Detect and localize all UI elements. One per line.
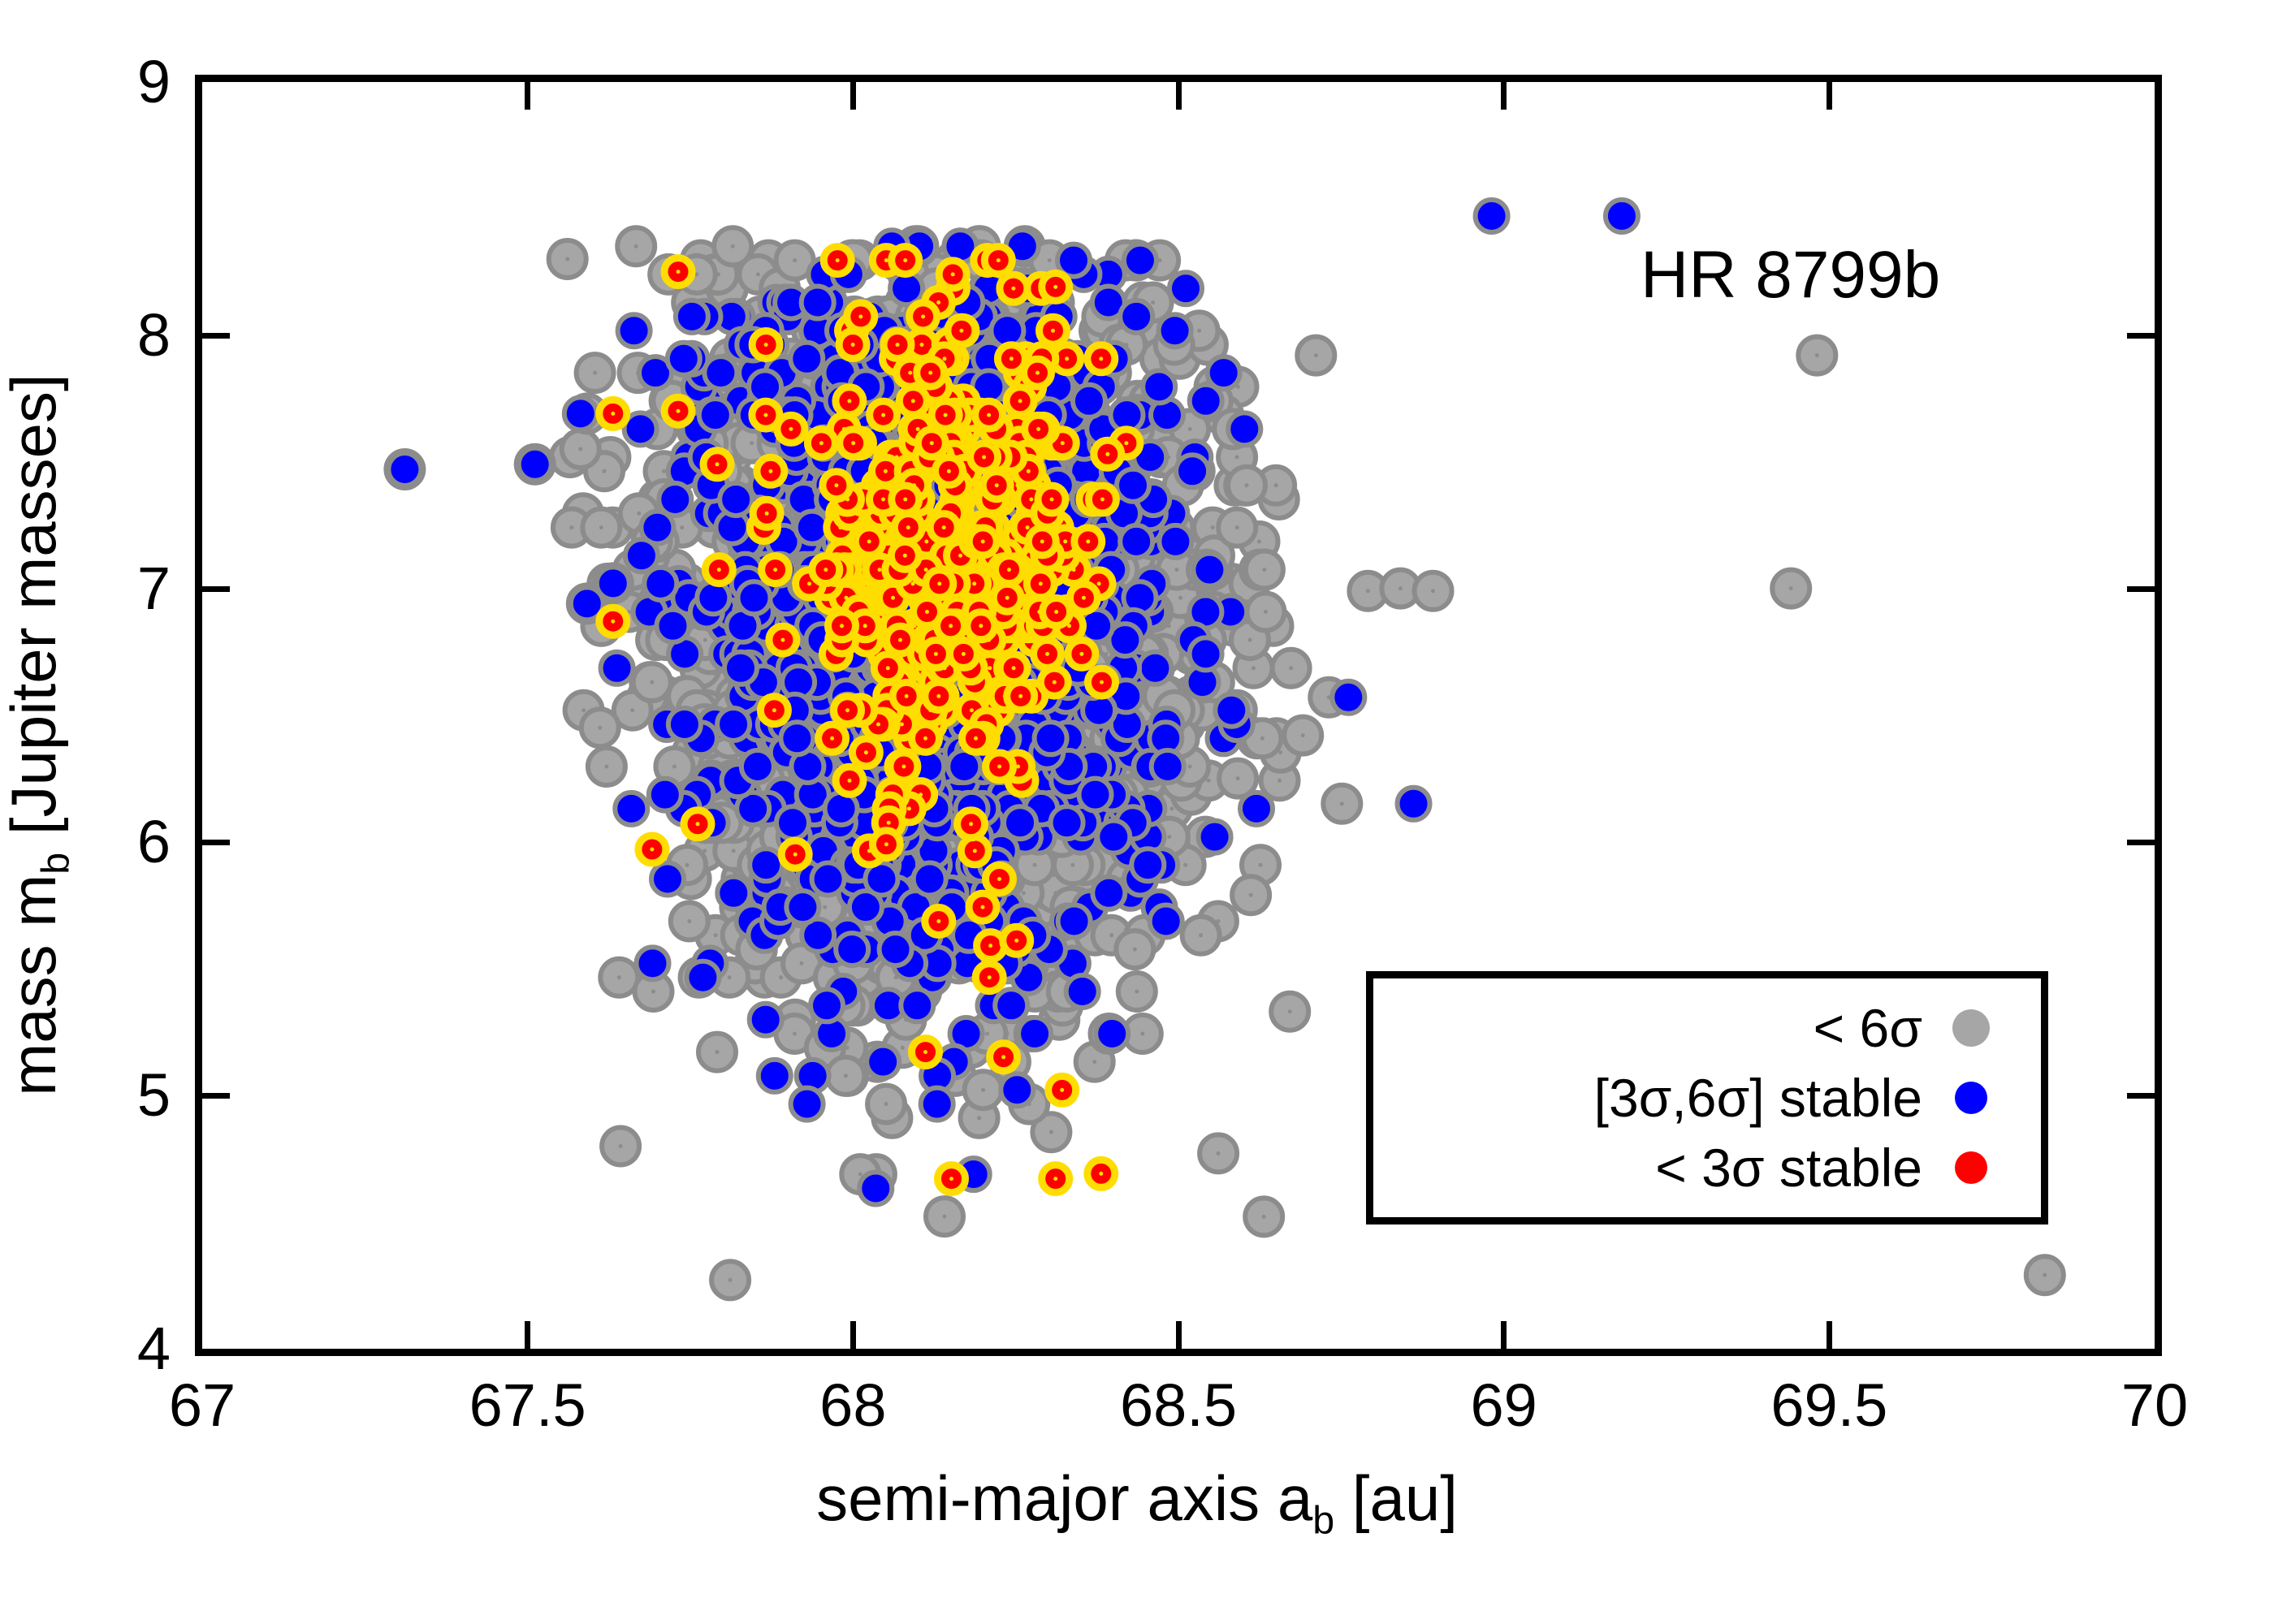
scatter-point xyxy=(780,722,813,754)
scatter-point-center xyxy=(728,975,732,979)
scatter-point xyxy=(1190,637,1222,670)
scatter-point xyxy=(651,863,684,896)
scatter-point-center xyxy=(1133,948,1137,952)
scatter-point xyxy=(1199,821,1231,853)
scatter-point-center xyxy=(1274,483,1278,487)
scatter-point-center xyxy=(599,525,603,529)
scatter-point xyxy=(625,539,658,572)
scatter-point xyxy=(676,300,708,333)
scatter-point-center xyxy=(1431,589,1435,593)
scatter-point xyxy=(1096,1017,1128,1050)
scatter-point xyxy=(1193,554,1226,586)
scatter-point-center xyxy=(1278,779,1282,783)
scatter-point xyxy=(668,708,701,741)
scatter-point xyxy=(1606,200,1638,232)
scatter-point-center xyxy=(604,765,608,769)
scatter-point-center xyxy=(1217,1151,1221,1155)
scatter-point xyxy=(812,863,845,896)
scatter-point-center xyxy=(1252,666,1256,670)
scatter-point xyxy=(618,314,651,347)
scatter-point-center xyxy=(1264,610,1268,614)
scatter-point-center xyxy=(1314,353,1318,357)
scatter-point-center xyxy=(1248,638,1252,642)
scatter-point-center xyxy=(687,919,691,923)
scatter-point-center xyxy=(619,1144,623,1148)
scatter-point xyxy=(519,448,551,481)
scatter-point-center xyxy=(793,1032,797,1036)
scatter-point xyxy=(750,1004,782,1036)
scatter-point-center xyxy=(565,257,569,261)
scatter-point-center xyxy=(662,469,666,473)
scatter-point-center xyxy=(1183,863,1187,867)
scatter-point-center xyxy=(750,441,754,445)
scatter-point xyxy=(1001,1073,1033,1106)
scatter-point xyxy=(791,1088,824,1121)
scatter-point-center xyxy=(630,708,634,712)
scatter-point-center xyxy=(603,469,607,473)
scatter-point xyxy=(717,708,750,741)
scatter-point xyxy=(1073,385,1105,417)
scatter-point xyxy=(724,652,757,685)
scatter-point xyxy=(1398,788,1430,820)
scatter-point-center xyxy=(1399,586,1403,590)
scatter-point-center xyxy=(598,726,602,730)
scatter-point xyxy=(738,581,771,614)
scatter-point-center xyxy=(715,1050,720,1054)
scatter-point-center xyxy=(617,975,621,979)
scatter-point-center xyxy=(1092,1060,1096,1064)
scatter-point xyxy=(1035,722,1067,754)
scatter-point-center xyxy=(800,961,804,965)
scatter-point-center xyxy=(1207,779,1211,783)
scatter-point xyxy=(1097,821,1130,853)
scatter-point xyxy=(1240,793,1273,825)
scatter-point-center xyxy=(1151,300,1155,304)
scatter-point-center xyxy=(981,1088,985,1092)
scatter-point xyxy=(1215,694,1247,727)
scatter-point-center xyxy=(1049,1130,1053,1134)
scatter-point xyxy=(1143,370,1175,403)
scatter-point xyxy=(1004,806,1036,839)
scatter-point-center xyxy=(985,1032,989,1036)
scatter-point xyxy=(859,1173,892,1205)
scatter-point xyxy=(1190,385,1222,417)
scatter-point-center xyxy=(1262,568,1266,572)
scatter-point-center xyxy=(1174,568,1178,572)
scatter-point-center xyxy=(858,1173,862,1177)
scatter-point-center xyxy=(651,990,655,994)
scatter-point xyxy=(659,483,691,516)
scatter-point-center xyxy=(1789,586,1793,590)
scatter-point xyxy=(880,933,912,965)
scatter-point-center xyxy=(634,244,638,248)
scatter-point xyxy=(1120,300,1152,333)
scatter-point-center xyxy=(779,975,783,979)
scatter-point-center xyxy=(884,258,888,262)
scatter-point-center xyxy=(714,933,718,937)
scatter-point xyxy=(720,483,752,516)
scatter-point-center xyxy=(844,1073,848,1078)
scatter-point xyxy=(1124,244,1156,277)
scatter-point-center xyxy=(1236,776,1240,780)
scatter-point-center xyxy=(703,638,707,642)
scatter-point xyxy=(741,750,774,783)
scatter-point xyxy=(1139,652,1171,685)
scatter-point xyxy=(699,399,732,431)
scatter-point-center xyxy=(1235,456,1239,460)
scatter-point xyxy=(717,877,750,909)
scatter-point-center xyxy=(884,1102,888,1106)
scatter-point-center xyxy=(1289,666,1293,670)
scatter-point-center xyxy=(1022,891,1026,895)
scatter-point-center xyxy=(1288,1009,1292,1013)
scatter-point-center xyxy=(732,849,736,853)
scatter-point xyxy=(1092,877,1125,909)
scatter-point-center xyxy=(1301,733,1305,737)
scatter-point-center xyxy=(578,447,582,451)
scatter-point-center xyxy=(793,258,797,262)
scatter-point xyxy=(786,891,819,923)
scatter-point xyxy=(759,1060,791,1092)
scatter-point-center xyxy=(763,413,767,417)
scatter-point xyxy=(637,947,669,979)
scatter-point xyxy=(686,961,719,994)
scatter-point xyxy=(921,1088,953,1121)
scatter-point xyxy=(1228,412,1260,445)
scatter-point xyxy=(776,806,809,839)
scatter-point-center xyxy=(1070,863,1074,867)
scatter-point xyxy=(1018,1017,1051,1050)
scatter-point-center xyxy=(1257,539,1261,543)
scatter-point-center xyxy=(1188,765,1192,769)
scatter-point xyxy=(901,989,933,1021)
scatter-point xyxy=(811,989,843,1021)
scatter-point-center xyxy=(943,1215,947,1219)
scatter-point-center xyxy=(1199,933,1203,937)
scatter-point xyxy=(704,356,737,389)
scatter-point xyxy=(388,453,421,486)
scatter-point-center xyxy=(650,680,654,685)
scatter-point-center xyxy=(728,1278,733,1282)
scatter-point-center xyxy=(1140,1032,1144,1036)
scatter-point-center xyxy=(823,905,827,909)
scatter-point xyxy=(1476,200,1508,232)
scatter-point-center xyxy=(2043,1273,2047,1277)
scatter-point-center xyxy=(1259,863,1263,867)
scatter-point-center xyxy=(593,371,597,375)
scatter-point-center xyxy=(756,272,760,276)
scatter-point xyxy=(601,652,633,685)
scatter-point xyxy=(1058,905,1091,938)
scatter-point-center xyxy=(731,244,735,248)
scatter-point-center xyxy=(1260,736,1265,741)
scatter-point xyxy=(790,343,823,375)
scatter-point-center xyxy=(672,765,677,769)
scatter-point-center xyxy=(1188,427,1192,431)
scatter-point xyxy=(914,863,946,896)
scatter-point-center xyxy=(1167,835,1171,839)
scatter-point xyxy=(995,989,1027,1021)
scatter-point-center xyxy=(1109,933,1113,937)
scatter-point-center xyxy=(1249,893,1253,897)
scatter-point xyxy=(1079,779,1112,811)
scatter-point xyxy=(1159,314,1191,347)
scatter-point-center xyxy=(1262,1215,1266,1219)
scatter-point-center xyxy=(1211,525,1215,529)
scatter-point xyxy=(1332,681,1364,714)
scatter-point-center xyxy=(1245,483,1249,487)
scatter-point-center xyxy=(569,525,573,529)
scatter-point xyxy=(697,581,729,614)
scatter-point-center xyxy=(680,525,684,529)
scatter-point-center xyxy=(1340,801,1344,806)
scatter-point xyxy=(750,849,782,881)
scatter-point xyxy=(1150,905,1182,938)
scatter-point-center xyxy=(1815,353,1819,357)
scatter-point-center xyxy=(1235,525,1239,529)
scatter-point-center xyxy=(1033,863,1037,867)
scatter-point-center xyxy=(1178,596,1182,600)
scatter-point-center xyxy=(1197,329,1201,333)
scatter-point xyxy=(1117,469,1149,502)
scatter-point-center xyxy=(637,512,641,516)
scatter-point xyxy=(657,610,690,642)
scatter-point xyxy=(836,933,868,965)
scatter-point xyxy=(1066,975,1099,1008)
scatter-point xyxy=(649,779,681,811)
scatter-point xyxy=(668,343,700,375)
scatter-point-center xyxy=(977,1116,981,1120)
scatter-point xyxy=(1169,272,1202,304)
scatter-point xyxy=(1120,525,1152,558)
scatter-point-center xyxy=(901,1046,905,1050)
scatter-point xyxy=(615,793,647,825)
scatter-point-center xyxy=(685,863,690,867)
scatter-point xyxy=(1159,525,1191,558)
scatter-point-center xyxy=(1048,258,1052,262)
scatter-point-center xyxy=(1366,589,1370,593)
scatter-point xyxy=(867,1046,899,1078)
scatter-point xyxy=(1051,806,1083,839)
scatter-point xyxy=(802,287,834,319)
scatter-point xyxy=(1152,750,1184,783)
scatter-point-center xyxy=(1099,356,1103,361)
scatter-point-center xyxy=(1170,806,1174,810)
scatter-point xyxy=(597,567,629,599)
scatter-point xyxy=(564,397,597,430)
scatter-point-center xyxy=(581,708,586,712)
scatter-point xyxy=(1131,849,1164,881)
scatter-point xyxy=(1176,455,1208,487)
scatter-point-center xyxy=(1135,990,1139,994)
